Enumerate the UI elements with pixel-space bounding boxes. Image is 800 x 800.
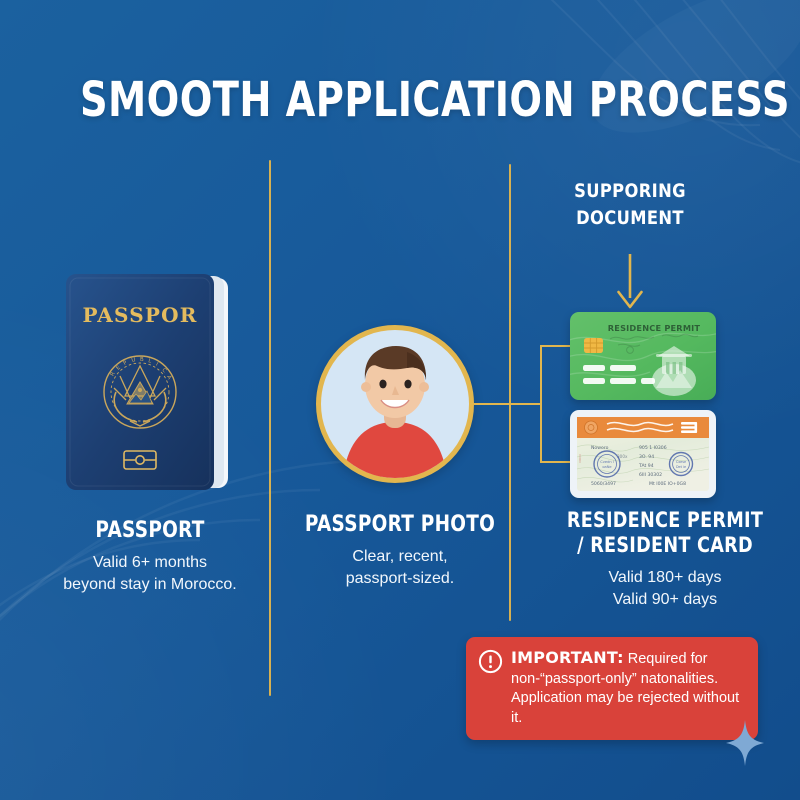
svg-text:Mt I00E IO+0G8: Mt I00E IO+0G8 <box>649 481 686 487</box>
passport-cover-text: PASSPOR <box>82 303 197 327</box>
svg-text:Noworo: Noworo <box>591 445 609 451</box>
caption-permit-validity-1: Valid 180+ days <box>540 567 790 589</box>
caption-passport-heading: PASSPORT <box>49 518 251 543</box>
svg-text:6III 30302: 6III 30302 <box>639 472 662 478</box>
svg-text:B: B <box>140 357 144 363</box>
important-alert-text: IMPORTANT: Required for non-“passport-on… <box>511 648 746 728</box>
caption-photo-heading: PASSPORT PHOTO <box>303 512 496 537</box>
caption-permit-validity-2: Valid 90+ days <box>540 589 790 611</box>
connector-horizontal-main <box>474 403 542 405</box>
svg-text:Det ie: Det ie <box>676 465 686 469</box>
connector-to-visa-card <box>540 461 574 463</box>
arrow-down-icon <box>600 252 660 314</box>
svg-text:IIIIIIIIII: IIIIIIIIII <box>578 454 582 463</box>
infographic-canvas: SMOOTH APPLICATION PROCESS SUPPORING DOC… <box>0 0 800 800</box>
page-title: SMOOTH APPLICATION PROCESS <box>80 72 720 128</box>
caption-passport-text: Valid 6+ months beyond stay in Morocco. <box>30 552 270 596</box>
svg-text:Cxese: Cxese <box>676 460 686 464</box>
resident-card-visa: Noworo 905 1 I0306 3O. 94 TAt 94 6III 30… <box>570 410 716 498</box>
smart-chip-icon <box>584 338 603 353</box>
important-alert-box: IMPORTANT: Required for non-“passport-on… <box>466 637 758 740</box>
caption-permit-heading-line2: / RESIDENT CARD <box>577 533 753 557</box>
svg-text:Cvedn l: Cvedn l <box>600 460 614 464</box>
caption-permit-heading-line1: RESIDENCE PERMIT <box>567 508 763 532</box>
exclamation-circle-icon <box>478 649 503 674</box>
svg-text:oaNe: oaNe <box>602 465 612 469</box>
residence-permit-card: RESIDENCE PERMIT <box>570 312 716 400</box>
caption-passport-photo: PASSPORT PHOTO Clear, recent, passport-s… <box>285 512 515 590</box>
caption-passport: PASSPORT Valid 6+ months beyond stay in … <box>30 518 270 596</box>
passport-illustration: PASSPOR <box>62 272 232 494</box>
caption-permit-heading: RESIDENCE PERMIT / RESIDENT CARD <box>560 508 770 558</box>
divider-left <box>269 160 271 696</box>
connector-to-green-card <box>540 345 574 347</box>
person-avatar-icon <box>316 325 474 483</box>
caption-residence-permit: RESIDENCE PERMIT / RESIDENT CARD Valid 1… <box>540 508 790 611</box>
svg-text:3O. 94: 3O. 94 <box>639 454 654 460</box>
caption-photo-text: Clear, recent, passport-sized. <box>285 546 515 590</box>
green-card-label: RESIDENCE PERMIT <box>608 323 701 333</box>
connector-vertical-bracket <box>540 345 542 463</box>
supporting-document-label: SUPPORING DOCUMENT <box>553 178 708 232</box>
important-label: IMPORTANT: <box>511 648 624 667</box>
monument-watermark-icon <box>652 346 696 396</box>
supporting-document-line2: DOCUMENT <box>553 205 708 232</box>
four-point-star-icon <box>726 720 764 766</box>
svg-text:5060/3497: 5060/3497 <box>591 481 616 487</box>
svg-text:TAt 94: TAt 94 <box>638 463 654 469</box>
supporting-document-line1: SUPPORING <box>553 178 708 205</box>
svg-text:905 1 I0306: 905 1 I0306 <box>639 445 667 451</box>
